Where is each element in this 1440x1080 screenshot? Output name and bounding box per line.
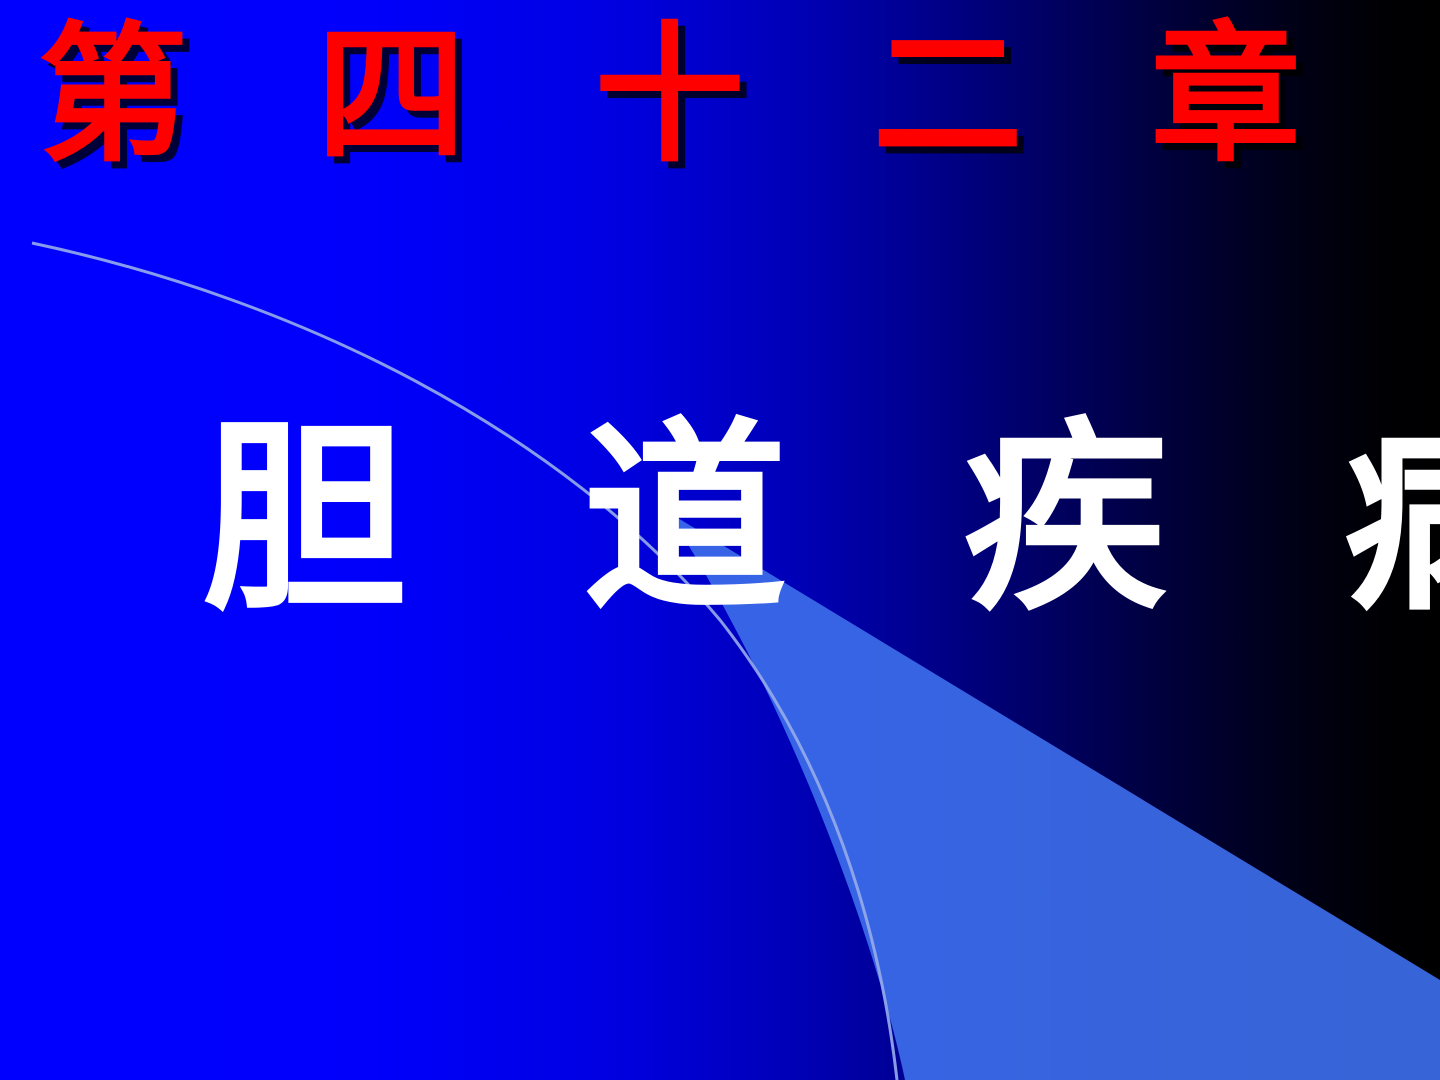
presentation-slide: 第 四 十 二 章 胆 道 疾 病 xyxy=(0,0,1440,1080)
background-arc-curve xyxy=(32,243,897,1080)
main-heading: 胆 道 疾 病 xyxy=(150,412,1340,629)
chapter-title: 第 四 十 二 章 xyxy=(0,18,1100,176)
